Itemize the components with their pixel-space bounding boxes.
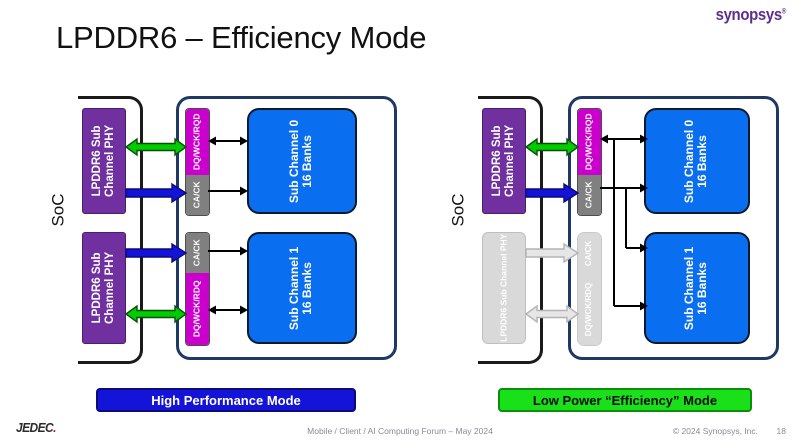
right-sub-channel-0-l1: Sub Channel 0 — [683, 119, 697, 202]
soc-label-right: SoC — [449, 193, 469, 226]
right-dq-block-0[interactable]: DQ/WCK/RQD — [578, 109, 601, 175]
right-ca-block-0[interactable]: CA/CK — [578, 175, 601, 215]
right-phy-1-label: LPDDR6 Sub Channel PHY — [499, 234, 509, 342]
right-dq-block-1-label: DQ/WCK/RDQ — [585, 282, 594, 335]
left-sub-channel-1-label: Sub Channel 1 16 Banks — [289, 246, 316, 329]
left-phy-1[interactable]: LPDDR6 Sub Channel PHY — [82, 232, 126, 344]
soc-label-left: SoC — [49, 193, 69, 226]
right-dq-block-1-disabled[interactable]: DQ/WCK/RDQ — [578, 273, 601, 345]
left-dq-block-1[interactable]: DQ/WCK/RDQ — [186, 273, 209, 345]
right-dq-block-0-label: DQ/WCK/RQD — [585, 114, 595, 171]
right-phy-0-label: LPDDR6 Sub Channel PHY — [491, 125, 517, 197]
right-sub-channel-1-l1: Sub Channel 1 — [683, 246, 697, 329]
right-sub-channel-1-l2: 16 Banks — [696, 262, 710, 315]
left-sub-channel-0-l1: Sub Channel 0 — [288, 119, 302, 202]
right-link-grey-0 — [526, 244, 578, 262]
right-sub-channel-0-label: Sub Channel 0 16 Banks — [684, 119, 711, 202]
left-ca-block-0-label: CA/CK — [193, 182, 203, 209]
left-link-blue-0 — [126, 184, 186, 202]
page-title: LPDDR6 – Efficiency Mode — [56, 20, 426, 56]
left-mem-link-dq-0 — [208, 134, 248, 148]
synopsys-logo-mark: ® — [782, 8, 786, 15]
left-link-green-1 — [126, 304, 186, 324]
left-link-green-0 — [126, 137, 186, 157]
left-sub-channel-0-label: Sub Channel 0 16 Banks — [289, 119, 316, 202]
right-link-blue-0 — [526, 184, 578, 202]
left-phy-1-label: LPDDR6 Sub Channel PHY — [91, 252, 117, 324]
right-phy-0[interactable]: LPDDR6 Sub Channel PHY — [482, 108, 526, 214]
left-sub-channel-1-l2: 16 Banks — [301, 262, 315, 315]
synopsys-logo-text: synopsys — [716, 5, 782, 24]
left-ca-block-0[interactable]: CA/CK — [186, 175, 209, 215]
right-ca-block-0-label: CA/CK — [585, 182, 595, 209]
left-sub-channel-0-l2: 16 Banks — [301, 135, 315, 188]
page-number: 18 — [777, 426, 786, 436]
left-sub-channel-0[interactable]: Sub Channel 0 16 Banks — [247, 108, 357, 214]
left-mem-link-dq-1 — [208, 303, 248, 317]
left-ca-block-1-label: CA/CK — [193, 240, 203, 267]
low-power-efficiency-diagram: SoC LPDDR6 Sub Channel PHY LPDDR6 Sub Ch… — [446, 92, 776, 372]
high-performance-diagram: SoC LPDDR6 Sub Channel PHY LPDDR6 Sub Ch… — [46, 92, 396, 372]
left-phy-1-label-l2: Channel PHY — [104, 252, 116, 324]
left-dq-block-0[interactable]: DQ/WCK/RQD — [186, 109, 209, 175]
right-memory-routing-bus — [600, 128, 650, 318]
left-phy-0-label: LPDDR6 Sub Channel PHY — [91, 125, 117, 197]
left-mem-link-ca-0 — [208, 184, 248, 198]
right-sub-channel-0[interactable]: Sub Channel 0 16 Banks — [644, 108, 750, 214]
right-ca-block-1-disabled[interactable]: CA/CK — [578, 233, 601, 273]
right-sub-channel-1-label: Sub Channel 1 16 Banks — [684, 246, 711, 329]
left-sub-channel-1-l1: Sub Channel 1 — [288, 246, 302, 329]
mode-badge-low-power[interactable]: Low Power “Efficiency” Mode — [498, 388, 752, 412]
left-sub-channel-1[interactable]: Sub Channel 1 16 Banks — [247, 232, 357, 344]
left-phy-0-label-l1: LPDDR6 Sub — [91, 126, 103, 197]
left-ca-block-1[interactable]: CA/CK — [186, 233, 209, 273]
right-phy-0-label-l1: LPDDR6 Sub — [491, 126, 503, 197]
right-sub-channel-0-l2: 16 Banks — [696, 135, 710, 188]
left-link-blue-1 — [126, 244, 186, 262]
right-io-stack-1-disabled: CA/CK DQ/WCK/RDQ — [577, 232, 602, 346]
right-sub-channel-1[interactable]: Sub Channel 1 16 Banks — [644, 232, 750, 344]
left-phy-0[interactable]: LPDDR6 Sub Channel PHY — [82, 108, 126, 214]
left-io-stack-1: CA/CK DQ/WCK/RDQ — [185, 232, 210, 346]
left-dq-block-1-label: DQ/WCK/RDQ — [193, 281, 203, 338]
right-link-green-0 — [526, 137, 578, 157]
right-io-stack-0: DQ/WCK/RQD CA/CK — [577, 108, 602, 216]
left-io-stack-0: DQ/WCK/RQD CA/CK — [185, 108, 210, 216]
left-phy-0-label-l2: Channel PHY — [104, 125, 116, 197]
slide-root: synopsys® LPDDR6 – Efficiency Mode SoC L… — [0, 0, 800, 448]
right-ca-block-1-label: CA/CK — [585, 240, 594, 265]
right-link-grey-1 — [526, 304, 578, 324]
left-phy-1-label-l1: LPDDR6 Sub — [91, 253, 103, 324]
left-dq-block-0-label: DQ/WCK/RQD — [193, 114, 203, 171]
right-phy-0-label-l2: Channel PHY — [504, 125, 516, 197]
mode-badge-high-performance[interactable]: High Performance Mode — [96, 388, 356, 412]
synopsys-logo: synopsys® — [716, 5, 786, 25]
footer-copyright: © 2024 Synopsys, Inc. — [673, 426, 758, 436]
right-phy-1-disabled[interactable]: LPDDR6 Sub Channel PHY — [482, 232, 526, 344]
left-mem-link-ca-1 — [208, 244, 248, 258]
